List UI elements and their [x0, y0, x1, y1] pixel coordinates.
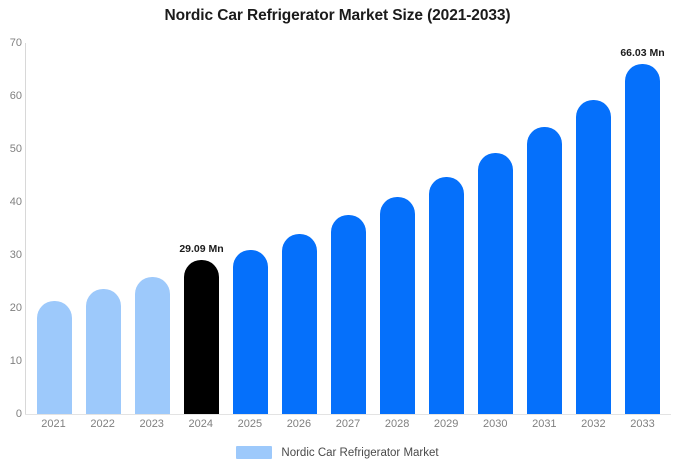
bar-2026[interactable] — [282, 234, 317, 414]
bar-2027[interactable] — [331, 215, 366, 414]
bar-2031[interactable] — [527, 127, 562, 414]
bar-slot-2029 — [422, 43, 471, 414]
bar-2025[interactable] — [233, 250, 268, 414]
bar-2024[interactable]: 29.09 Mn — [184, 260, 219, 414]
x-axis-line — [25, 414, 671, 415]
bar-slot-2021 — [30, 43, 79, 414]
bar-series: 29.09 Mn66.03 Mn — [26, 43, 671, 414]
bar-2030[interactable] — [478, 153, 513, 414]
y-tick-70: 70 — [10, 37, 22, 49]
bar-2032[interactable] — [576, 100, 611, 414]
bar-slot-2024: 29.09 Mn — [177, 43, 226, 414]
bar-slot-2033: 66.03 Mn — [618, 43, 667, 414]
y-tick-50: 50 — [10, 143, 22, 155]
y-tick-10: 10 — [10, 355, 22, 367]
x-tick-2029: 2029 — [422, 418, 471, 436]
bar-2033[interactable]: 66.03 Mn — [625, 64, 660, 414]
bar-slot-2026 — [275, 43, 324, 414]
bar-2029[interactable] — [429, 177, 464, 414]
bar-2023[interactable] — [135, 277, 170, 414]
x-tick-2024: 2024 — [176, 418, 225, 436]
bar-slot-2022 — [79, 43, 128, 414]
bar-chart: Nordic Car Refrigerator Market Size (202… — [0, 0, 675, 469]
bar-slot-2030 — [471, 43, 520, 414]
x-tick-2025: 2025 — [225, 418, 274, 436]
x-tick-2031: 2031 — [520, 418, 569, 436]
bar-slot-2023 — [128, 43, 177, 414]
bar-value-label-2033: 66.03 Mn — [620, 47, 664, 59]
legend-label: Nordic Car Refrigerator Market — [281, 447, 438, 459]
y-tick-60: 60 — [10, 90, 22, 102]
y-tick-0: 0 — [16, 408, 22, 420]
x-tick-2026: 2026 — [274, 418, 323, 436]
bar-slot-2028 — [373, 43, 422, 414]
bar-slot-2032 — [569, 43, 618, 414]
plot-area: 29.09 Mn66.03 Mn — [25, 43, 671, 414]
legend-swatch-icon — [236, 446, 272, 459]
y-tick-40: 40 — [10, 196, 22, 208]
bar-slot-2031 — [520, 43, 569, 414]
x-tick-2032: 2032 — [569, 418, 618, 436]
bar-2022[interactable] — [86, 289, 121, 414]
x-tick-2030: 2030 — [471, 418, 520, 436]
y-tick-20: 20 — [10, 302, 22, 314]
x-tick-2033: 2033 — [618, 418, 667, 436]
bar-slot-2027 — [324, 43, 373, 414]
y-tick-30: 30 — [10, 249, 22, 261]
bar-2021[interactable] — [37, 301, 72, 414]
bar-slot-2025 — [226, 43, 275, 414]
x-tick-2028: 2028 — [373, 418, 422, 436]
x-tick-2021: 2021 — [29, 418, 78, 436]
chart-title: Nordic Car Refrigerator Market Size (202… — [0, 7, 675, 25]
chart-legend: Nordic Car Refrigerator Market — [0, 446, 675, 459]
x-tick-2022: 2022 — [78, 418, 127, 436]
y-axis-tick-labels: 706050403020100 — [0, 43, 22, 414]
bar-value-label-2024: 29.09 Mn — [179, 243, 223, 255]
bar-2028[interactable] — [380, 197, 415, 414]
x-tick-2027: 2027 — [323, 418, 372, 436]
x-axis-tick-labels: 2021202220232024202520262027202820292030… — [25, 418, 671, 436]
x-tick-2023: 2023 — [127, 418, 176, 436]
